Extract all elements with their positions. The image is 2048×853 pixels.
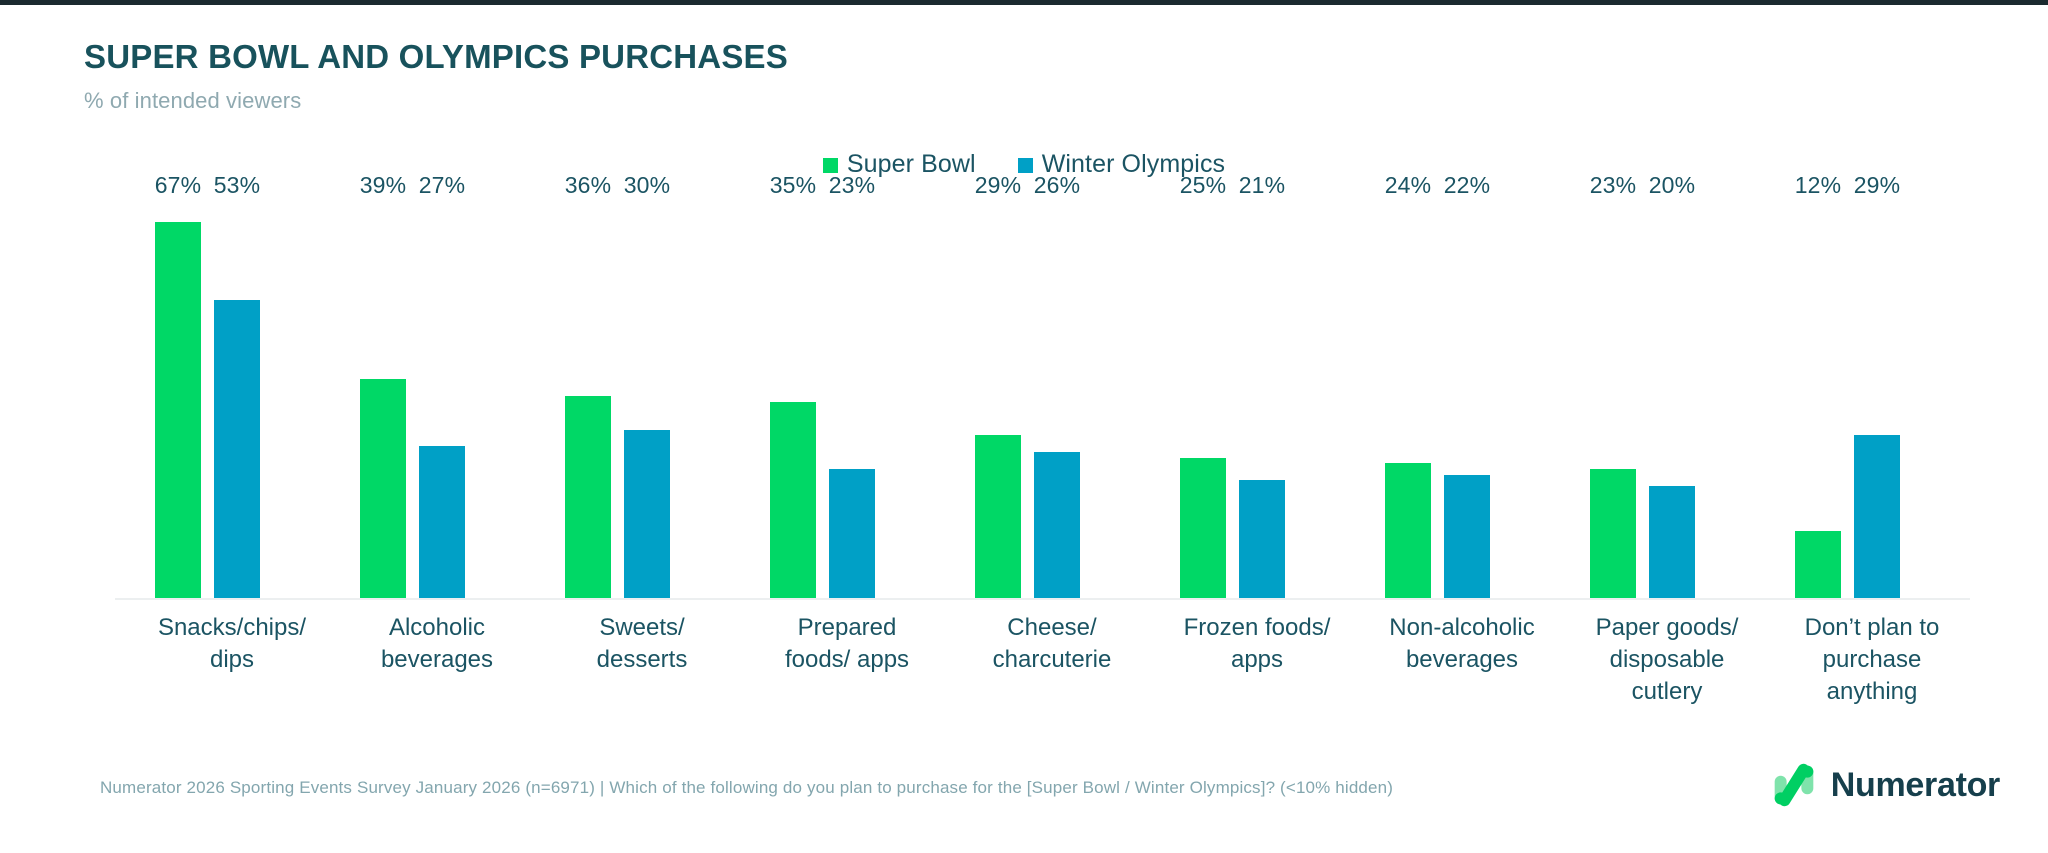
numerator-logo-icon: [1771, 762, 1817, 808]
bar-value-label: 35%: [770, 172, 817, 199]
bar-super-bowl[interactable]: 29%: [975, 205, 1021, 598]
category-label-line: Don’t plan to: [1767, 612, 1977, 644]
chart-legend: Super BowlWinter Olympics: [0, 150, 2048, 179]
category-label-line: disposable: [1562, 644, 1772, 676]
bar-winter-olympics[interactable]: 30%: [624, 205, 670, 598]
bar-group: 67%53%: [137, 205, 327, 598]
bar-group: 36%30%: [547, 205, 737, 598]
bar-rect[interactable]: [624, 430, 670, 598]
bar-group-bars: 23%20%: [1572, 205, 1762, 598]
bar-value-label: 12%: [1795, 172, 1842, 199]
bar-rect[interactable]: [975, 435, 1021, 598]
bar-super-bowl[interactable]: 35%: [770, 205, 816, 598]
category-label: Preparedfoods/ apps: [742, 612, 952, 676]
category-axis-labels: Snacks/chips/dipsAlcoholicbeveragesSweet…: [115, 612, 1970, 732]
page-subtitle: % of intended viewers: [84, 88, 301, 114]
bar-rect[interactable]: [155, 222, 201, 598]
bar-value-label: 30%: [624, 172, 671, 199]
category-label-line: Alcoholic: [332, 612, 542, 644]
category-label-line: foods/ apps: [742, 644, 952, 676]
bar-value-label: 53%: [214, 172, 261, 199]
bar-rect[interactable]: [214, 300, 260, 598]
bar-winter-olympics[interactable]: 22%: [1444, 205, 1490, 598]
bar-rect[interactable]: [419, 446, 465, 598]
bar-winter-olympics[interactable]: 27%: [419, 205, 465, 598]
bar-group: 23%20%: [1572, 205, 1762, 598]
category-label-line: purchase: [1767, 644, 1977, 676]
category-label: Frozen foods/apps: [1152, 612, 1362, 676]
bar-group-bars: 35%23%: [752, 205, 942, 598]
bar-winter-olympics[interactable]: 53%: [214, 205, 260, 598]
bar-winter-olympics[interactable]: 20%: [1649, 205, 1695, 598]
category-label-line: dips: [127, 644, 337, 676]
category-label-line: Frozen foods/: [1152, 612, 1362, 644]
bar-rect[interactable]: [1385, 463, 1431, 598]
bar-group: 12%29%: [1777, 205, 1967, 598]
category-label-line: Snacks/chips/: [127, 612, 337, 644]
bar-group-bars: 36%30%: [547, 205, 737, 598]
bar-rect[interactable]: [565, 396, 611, 598]
bar-winter-olympics[interactable]: 23%: [829, 205, 875, 598]
bar-value-label: 24%: [1385, 172, 1432, 199]
category-label-line: charcuterie: [947, 644, 1157, 676]
category-label-line: Non-alcoholic: [1357, 612, 1567, 644]
bar-super-bowl[interactable]: 25%: [1180, 205, 1226, 598]
bar-winter-olympics[interactable]: 29%: [1854, 205, 1900, 598]
bar-value-label: 67%: [155, 172, 202, 199]
axis-baseline: [115, 598, 1970, 600]
slide-canvas: Super Bowl and Olympics Purchases % of i…: [0, 0, 2048, 853]
bar-value-label: 29%: [975, 172, 1022, 199]
bar-rect[interactable]: [1444, 475, 1490, 599]
category-label-line: Paper goods/: [1562, 612, 1772, 644]
category-label: Non-alcoholicbeverages: [1357, 612, 1567, 676]
page-title: Super Bowl and Olympics Purchases: [84, 38, 788, 76]
legend-swatch-icon: [823, 158, 838, 173]
bar-group-bars: 25%21%: [1162, 205, 1352, 598]
numerator-logo-text: Numerator: [1831, 766, 2000, 805]
bar-winter-olympics[interactable]: 21%: [1239, 205, 1285, 598]
category-label-line: Sweets/: [537, 612, 747, 644]
category-label: Don’t plan topurchaseanything: [1767, 612, 1977, 708]
bar-super-bowl[interactable]: 12%: [1795, 205, 1841, 598]
bar-rect[interactable]: [1854, 435, 1900, 598]
category-label-line: anything: [1767, 676, 1977, 708]
bar-value-label: 25%: [1180, 172, 1227, 199]
bar-super-bowl[interactable]: 39%: [360, 205, 406, 598]
bar-rect[interactable]: [829, 469, 875, 598]
bar-group: 35%23%: [752, 205, 942, 598]
bar-super-bowl[interactable]: 23%: [1590, 205, 1636, 598]
bar-group: 29%26%: [957, 205, 1147, 598]
category-label-line: apps: [1152, 644, 1362, 676]
bar-value-label: 29%: [1854, 172, 1901, 199]
bar-value-label: 39%: [360, 172, 407, 199]
bar-rect[interactable]: [1649, 486, 1695, 598]
category-label: Paper goods/disposablecutlery: [1562, 612, 1772, 708]
bar-group-bars: 29%26%: [957, 205, 1147, 598]
bar-group-bars: 12%29%: [1777, 205, 1967, 598]
bar-rect[interactable]: [1795, 531, 1841, 598]
numerator-logo: Numerator: [1771, 762, 2000, 808]
bar-value-label: 36%: [565, 172, 612, 199]
bar-value-label: 27%: [419, 172, 466, 199]
bar-rect[interactable]: [1034, 452, 1080, 598]
category-label-line: Cheese/: [947, 612, 1157, 644]
category-label: Cheese/charcuterie: [947, 612, 1157, 676]
source-footnote: Numerator 2026 Sporting Events Survey Ja…: [100, 778, 1393, 798]
bar-group: 24%22%: [1367, 205, 1557, 598]
bar-rect[interactable]: [770, 402, 816, 599]
bar-value-label: 26%: [1034, 172, 1081, 199]
bar-value-label: 22%: [1444, 172, 1491, 199]
category-label-line: Prepared: [742, 612, 952, 644]
bar-value-label: 23%: [1590, 172, 1637, 199]
category-label-line: desserts: [537, 644, 747, 676]
category-label: Sweets/desserts: [537, 612, 747, 676]
category-label-line: beverages: [332, 644, 542, 676]
bar-group-bars: 39%27%: [342, 205, 532, 598]
category-label: Alcoholicbeverages: [332, 612, 542, 676]
bar-rect[interactable]: [1180, 458, 1226, 598]
bar-group-bars: 24%22%: [1367, 205, 1557, 598]
bar-rect[interactable]: [1590, 469, 1636, 598]
bar-winter-olympics[interactable]: 26%: [1034, 205, 1080, 598]
bar-rect[interactable]: [1239, 480, 1285, 598]
bar-super-bowl[interactable]: 24%: [1385, 205, 1431, 598]
bar-value-label: 20%: [1649, 172, 1696, 199]
legend-swatch-icon: [1018, 158, 1033, 173]
category-label: Snacks/chips/dips: [127, 612, 337, 676]
bar-value-label: 21%: [1239, 172, 1286, 199]
top-accent-bar: [0, 0, 2048, 5]
bar-group-bars: 67%53%: [137, 205, 327, 598]
bar-group: 25%21%: [1162, 205, 1352, 598]
category-label-line: beverages: [1357, 644, 1567, 676]
bar-value-label: 23%: [829, 172, 876, 199]
chart-plot-area: 67%53%39%27%36%30%35%23%29%26%25%21%24%2…: [115, 205, 1970, 600]
bar-group: 39%27%: [342, 205, 532, 598]
bar-super-bowl[interactable]: 67%: [155, 205, 201, 598]
category-label-line: cutlery: [1562, 676, 1772, 708]
bar-super-bowl[interactable]: 36%: [565, 205, 611, 598]
bar-rect[interactable]: [360, 379, 406, 598]
